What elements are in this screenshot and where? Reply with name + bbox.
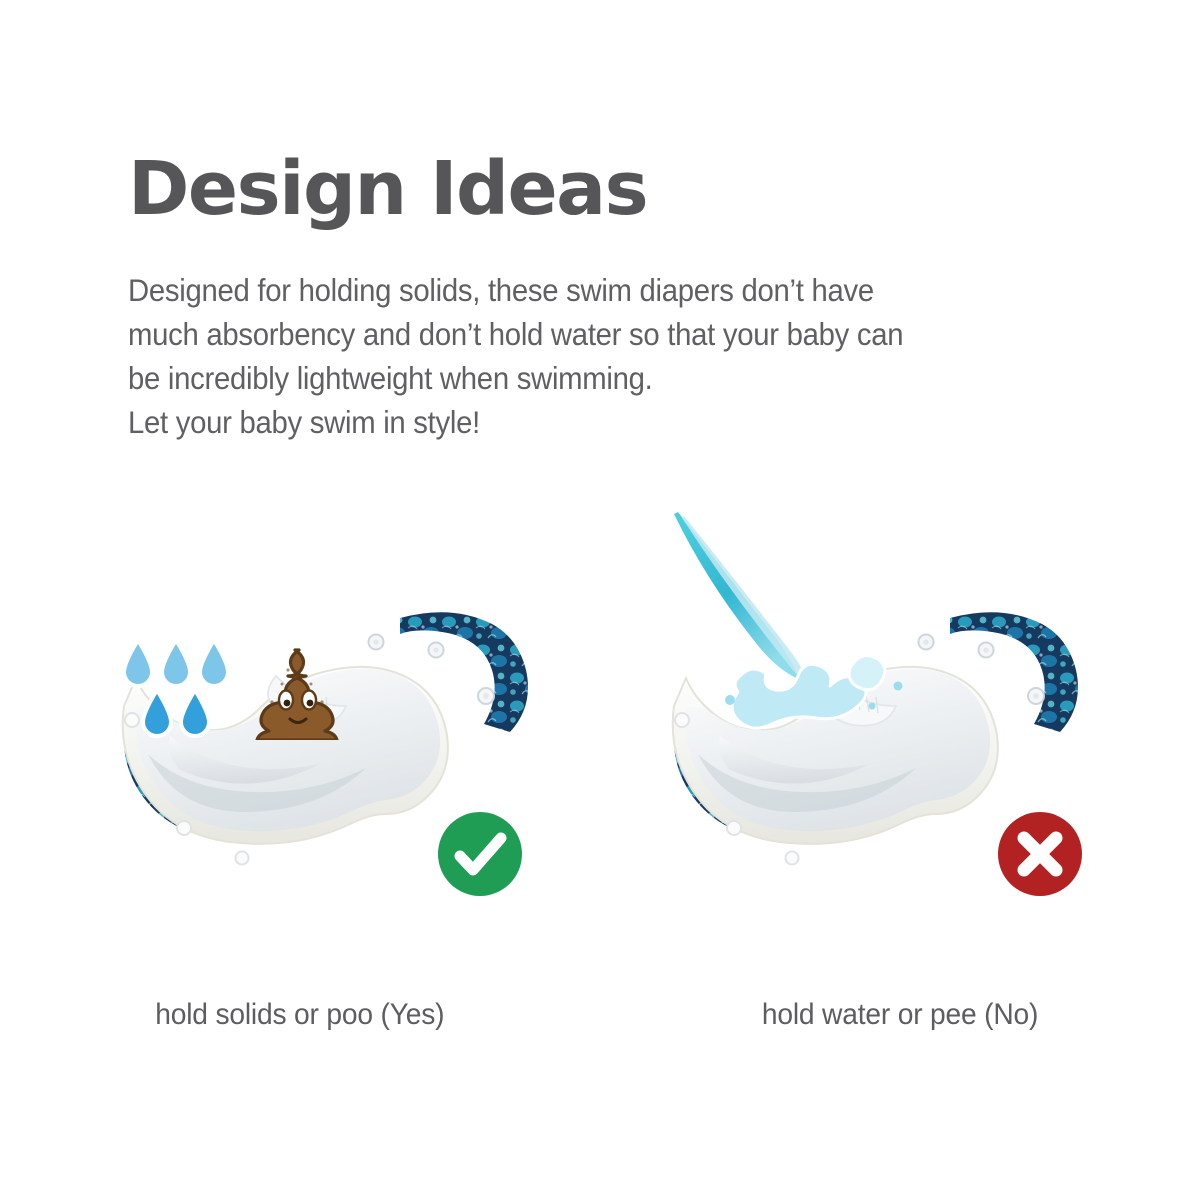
water-droplets-group [120,632,240,744]
comparison-column-yes: hold solids or poo (Yes) [0,500,600,1120]
caption-yes: hold solids or poo (Yes) [0,998,600,1032]
product-stage-left [0,500,600,940]
caption-no: hold water or pee (No) [600,998,1200,1032]
status-badge-yes [436,810,524,898]
water-droplet-icon [124,640,228,736]
intro-paragraph: Designed for holding solids, these swim … [128,226,1058,444]
comparison-column-no: hold water or pee (No) [600,500,1200,1120]
product-stage-right [600,500,1200,940]
poo-emoji-icon [248,644,346,740]
header-block: Design Ideas Designed for holding solids… [128,152,1128,444]
infographic-page: Design Ideas Designed for holding solids… [0,0,1200,1200]
status-badge-no [996,810,1084,898]
page-title: Design Ideas [128,152,1128,226]
comparison-section: hold solids or poo (Yes) [0,500,1200,1120]
